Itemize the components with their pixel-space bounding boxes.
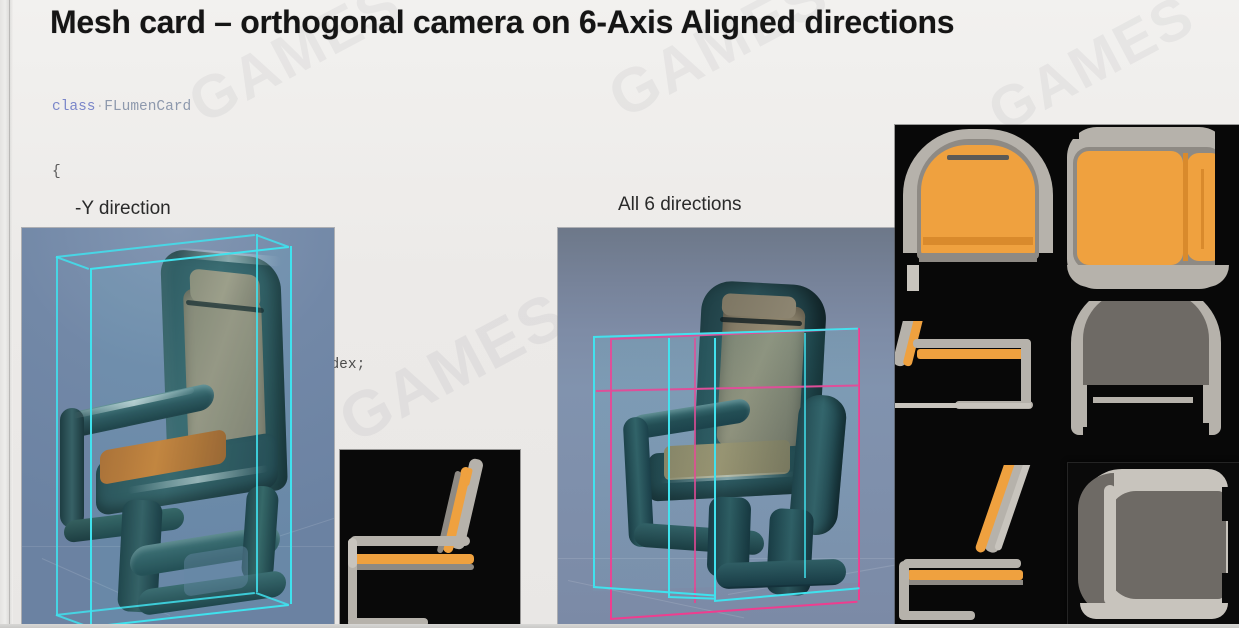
- watermark-text: GAMES: [977, 0, 1205, 145]
- card-cell-back[interactable]: [1065, 301, 1239, 477]
- card-render-inset[interactable]: [340, 450, 520, 628]
- card-render-bottom[interactable]: [1068, 463, 1239, 628]
- chair-mesh: [598, 283, 868, 613]
- caption-left-viewport: -Y direction: [75, 198, 171, 220]
- caption-right-viewport: All 6 directions: [618, 194, 742, 216]
- card-cell-side-right[interactable]: [895, 465, 1061, 628]
- chair-mesh: [34, 250, 326, 622]
- slide-bottom-edge: [0, 624, 1239, 628]
- card-cell-front[interactable]: [895, 125, 1061, 315]
- viewport-single-direction[interactable]: [22, 228, 334, 628]
- viewport-all-directions[interactable]: [558, 228, 898, 628]
- slide-title: Mesh card – orthogonal camera on 6-Axis …: [50, 4, 954, 41]
- slide-canvas: GAMES GAMES GAMES GAMES GAMES Mesh card …: [0, 0, 1239, 628]
- code-line: class·FLumenCard: [52, 97, 365, 119]
- slide-left-edge: [0, 0, 13, 628]
- code-line: {: [52, 162, 365, 184]
- card-cell-side-left[interactable]: [895, 321, 1061, 471]
- card-cell-top[interactable]: [1065, 125, 1239, 297]
